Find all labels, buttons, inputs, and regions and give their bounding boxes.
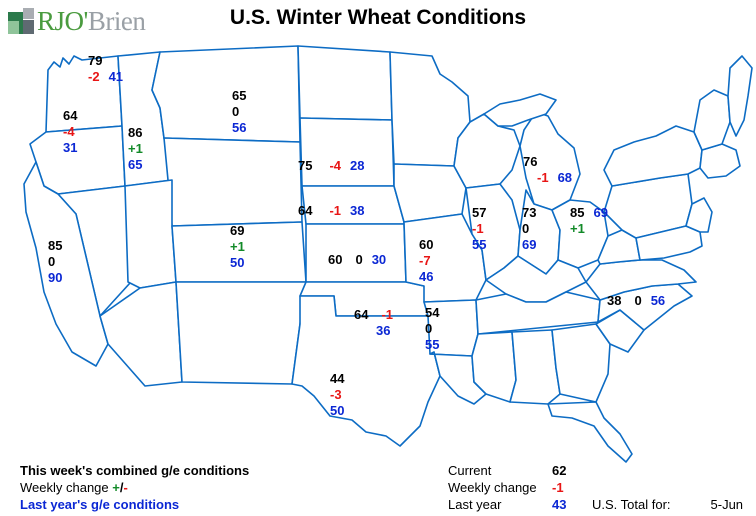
state-shape-iowa bbox=[394, 164, 466, 222]
state-lastyear-california: 90 bbox=[48, 271, 62, 284]
state-current-indiana: 73 bbox=[522, 206, 536, 219]
state-change-missouri: -7 bbox=[419, 254, 433, 267]
state-change-illinois: -1 bbox=[472, 222, 486, 235]
summary-total-date: 5-Jun bbox=[711, 496, 744, 513]
legend-plus-symbol: + bbox=[112, 480, 120, 495]
legend-line-current: This week's combined g/e conditions bbox=[20, 462, 249, 479]
state-shape-north-dakota bbox=[298, 46, 392, 120]
state-data-indiana: 73 0 69 bbox=[522, 206, 536, 251]
state-change-colorado: +1 bbox=[230, 240, 245, 253]
state-data-michigan: 76 -168 bbox=[523, 155, 572, 184]
state-current-oklahoma: 64 bbox=[354, 307, 368, 322]
summary-current-label: Current bbox=[448, 462, 552, 479]
state-shape-wyoming bbox=[164, 138, 302, 226]
state-lastyear-oregon: 31 bbox=[63, 141, 77, 154]
legend-weekly-change-text: Weekly change bbox=[20, 480, 112, 495]
state-lastyear-michigan: 68 bbox=[558, 170, 572, 185]
state-lastyear-south-dakota: 28 bbox=[350, 158, 364, 173]
state-data-oregon: 64 -4 31 bbox=[63, 109, 77, 154]
state-shape-south-dakota bbox=[300, 118, 394, 186]
state-lastyear-indiana: 69 bbox=[522, 238, 536, 251]
summary-last-year-value: 43 bbox=[552, 496, 592, 513]
state-lastyear-arkansas: 55 bbox=[425, 338, 439, 351]
us-map-container: 79 -241 64 -4 31 86 +1 65 65 0 56 85 0 9… bbox=[0, 34, 756, 470]
state-lastyear-colorado: 50 bbox=[230, 256, 245, 269]
state-current-missouri: 60 bbox=[419, 238, 433, 251]
state-data-illinois: 57 -1 55 bbox=[472, 206, 486, 251]
state-data-texas: 44 -3 50 bbox=[330, 372, 344, 417]
state-change-oregon: -4 bbox=[63, 125, 77, 138]
state-current-kansas: 60 bbox=[328, 252, 342, 267]
state-current-north-carolina: 38 bbox=[607, 293, 621, 308]
state-lastyear-idaho: 65 bbox=[128, 158, 143, 171]
state-lastyear-ohio: 69 bbox=[593, 205, 607, 220]
state-change-nebraska: -1 bbox=[329, 203, 341, 218]
state-data-washington: 79 -241 bbox=[88, 54, 123, 83]
state-lastyear-missouri: 46 bbox=[419, 270, 433, 283]
state-lastyear-montana: 56 bbox=[232, 121, 246, 134]
state-data-ohio: 8569 +1 bbox=[570, 206, 608, 235]
state-change-indiana: 0 bbox=[522, 222, 536, 235]
summary-weekly-change-value: -1 bbox=[552, 479, 592, 496]
state-current-oregon: 64 bbox=[63, 109, 77, 122]
state-change-ohio: +1 bbox=[570, 222, 608, 235]
state-lastyear-washington: 41 bbox=[109, 69, 123, 84]
summary-row-current: Current62 bbox=[448, 462, 743, 479]
state-data-kansas: 60030 bbox=[328, 253, 386, 266]
state-shape-utah bbox=[125, 180, 176, 288]
state-change-montana: 0 bbox=[232, 105, 246, 118]
state-data-missouri: 60 -7 46 bbox=[419, 238, 433, 283]
summary-weekly-change-label: Weekly change bbox=[448, 479, 552, 496]
state-data-colorado: 69 +1 50 bbox=[230, 224, 245, 269]
state-change-michigan: -1 bbox=[537, 170, 549, 185]
state-current-colorado: 69 bbox=[230, 224, 245, 237]
state-lastyear-texas: 50 bbox=[330, 404, 344, 417]
state-current-nebraska: 64 bbox=[298, 203, 312, 218]
state-shape-vermont-newhampshire bbox=[694, 90, 730, 150]
state-data-nebraska: 64-138 bbox=[298, 204, 365, 217]
state-current-california: 85 bbox=[48, 239, 62, 252]
state-data-north-carolina: 38056 bbox=[607, 294, 665, 307]
state-change-oklahoma: -1 bbox=[381, 307, 393, 322]
legend-line-weekly-change: Weekly change +/- bbox=[20, 479, 249, 496]
summary-row-weekly-change: Weekly change-1 bbox=[448, 479, 743, 496]
state-change-texas: -3 bbox=[330, 388, 344, 401]
state-current-montana: 65 bbox=[232, 89, 246, 102]
state-current-south-dakota: 75 bbox=[298, 158, 312, 173]
state-change-south-dakota: -4 bbox=[329, 158, 341, 173]
state-current-illinois: 57 bbox=[472, 206, 486, 219]
state-current-idaho: 86 bbox=[128, 126, 143, 139]
state-change-north-carolina: 0 bbox=[634, 293, 641, 308]
state-current-ohio: 85 bbox=[570, 205, 584, 220]
state-change-arkansas: 0 bbox=[425, 322, 439, 335]
state-shape-florida bbox=[548, 402, 632, 462]
summary-total-label: U.S. Total for: bbox=[592, 497, 671, 512]
state-shape-oregon bbox=[30, 126, 125, 194]
state-data-idaho: 86 +1 65 bbox=[128, 126, 143, 171]
state-data-south-dakota: 75-428 bbox=[298, 159, 365, 172]
summary-row-last-year: Last year43U.S. Total for:5-Jun bbox=[448, 496, 743, 513]
legend: This week's combined g/e conditions Week… bbox=[20, 462, 249, 513]
summary-current-value: 62 bbox=[552, 462, 592, 479]
legend-minus-symbol: - bbox=[123, 480, 127, 495]
state-current-arkansas: 54 bbox=[425, 306, 439, 319]
state-data-california: 85 0 90 bbox=[48, 239, 62, 284]
state-shape-georgia bbox=[552, 324, 610, 402]
state-lastyear-kansas: 30 bbox=[372, 252, 386, 267]
state-lastyear-oklahoma: 36 bbox=[376, 324, 393, 337]
state-current-washington: 79 bbox=[88, 54, 123, 67]
state-change-kansas: 0 bbox=[355, 252, 362, 267]
state-shape-maine bbox=[728, 56, 752, 136]
page-title: U.S. Winter Wheat Conditions bbox=[0, 6, 756, 30]
state-shape-new-mexico bbox=[176, 282, 306, 384]
state-data-montana: 65 0 56 bbox=[232, 89, 246, 134]
state-data-oklahoma: 64-1 36 bbox=[354, 308, 393, 337]
state-lastyear-nebraska: 38 bbox=[350, 203, 364, 218]
state-change-california: 0 bbox=[48, 255, 62, 268]
state-current-michigan: 76 bbox=[523, 155, 572, 168]
state-change-washington: -2 bbox=[88, 69, 100, 84]
state-shape-montana bbox=[152, 46, 300, 142]
state-lastyear-north-carolina: 56 bbox=[651, 293, 665, 308]
state-current-texas: 44 bbox=[330, 372, 344, 385]
state-lastyear-illinois: 55 bbox=[472, 238, 486, 251]
state-data-arkansas: 54 0 55 bbox=[425, 306, 439, 351]
summary-last-year-label: Last year bbox=[448, 496, 552, 513]
legend-line-last-year: Last year's g/e conditions bbox=[20, 496, 249, 513]
us-total-summary: Current62 Weekly change-1 Last year43U.S… bbox=[448, 462, 743, 513]
state-change-idaho: +1 bbox=[128, 142, 143, 155]
